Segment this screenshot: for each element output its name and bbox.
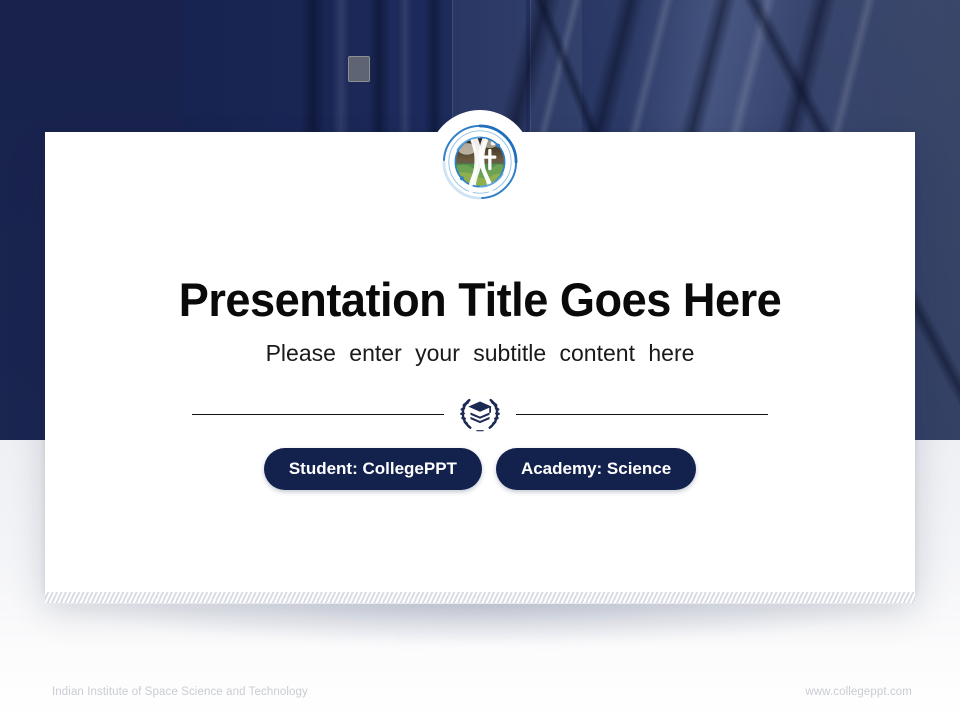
academy-pill-button[interactable]: Academy: Science [496, 448, 696, 490]
background-vent-box [348, 56, 370, 82]
graduation-cap-laurel-emblem [458, 394, 502, 434]
iist-logo [439, 121, 521, 203]
divider-line-right [516, 414, 768, 415]
info-pill-row: Student: CollegePPT Academy: Science [45, 448, 915, 490]
card-drop-shadow [60, 600, 900, 646]
page-title: Presentation Title Goes Here [62, 272, 897, 327]
student-pill-button[interactable]: Student: CollegePPT [264, 448, 482, 490]
divider [45, 394, 915, 434]
divider-line-left [192, 414, 444, 415]
presentation-slide: Presentation Title Goes Here Please ente… [0, 0, 960, 720]
footer-institution-label: Indian Institute of Space Science and Te… [52, 686, 308, 698]
card-bottom-hatch-strip [45, 592, 915, 604]
divider-emblem-wrap [444, 394, 516, 434]
page-subtitle: Please enter your subtitle content here [45, 340, 915, 367]
footer-website-label: www.collegeppt.com [805, 686, 912, 698]
logo-notch [428, 110, 532, 214]
